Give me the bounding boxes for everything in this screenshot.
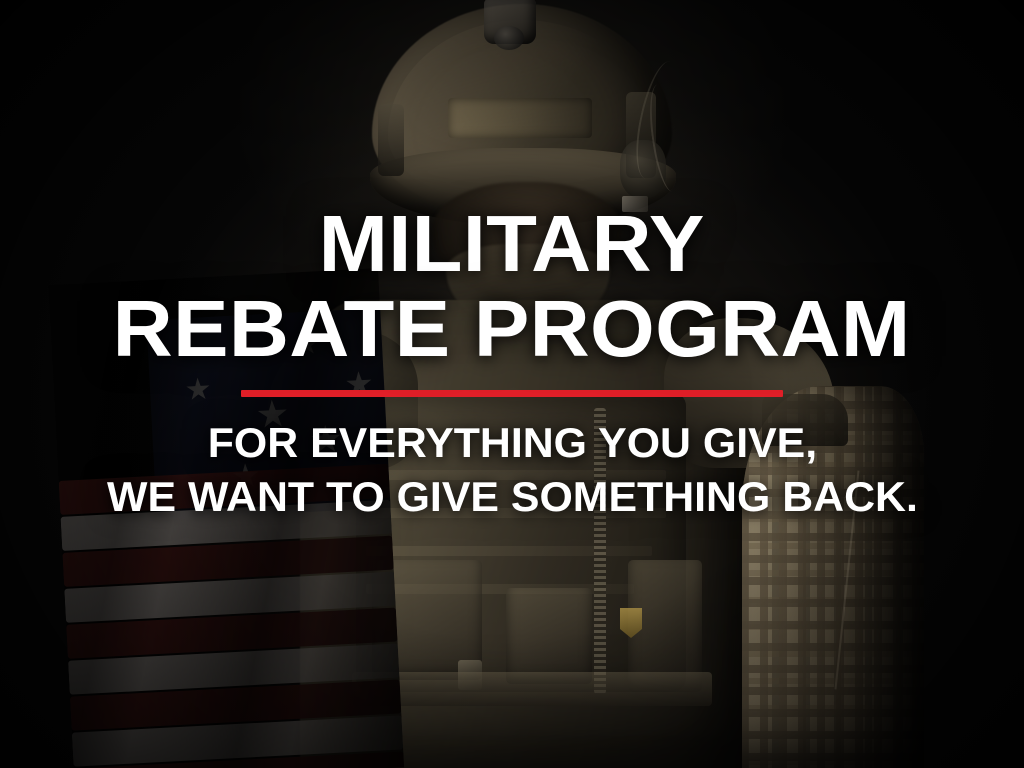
poster-text-block: MILITARY REBATE PROGRAM FOR EVERYTHING Y… xyxy=(0,0,1024,768)
headline-line-2: REBATE PROGRAM xyxy=(113,291,911,368)
red-divider-rule xyxy=(241,390,783,397)
subtitle-line-2: WE WANT TO GIVE SOMETHING BACK. xyxy=(107,473,918,522)
military-rebate-poster: MILITARY REBATE PROGRAM FOR EVERYTHING Y… xyxy=(0,0,1024,768)
subtitle-line-1: FOR EVERYTHING YOU GIVE, xyxy=(107,419,918,468)
headline-line-1: MILITARY xyxy=(319,206,705,283)
poster-subtitle: FOR EVERYTHING YOU GIVE, WE WANT TO GIVE… xyxy=(115,419,910,522)
